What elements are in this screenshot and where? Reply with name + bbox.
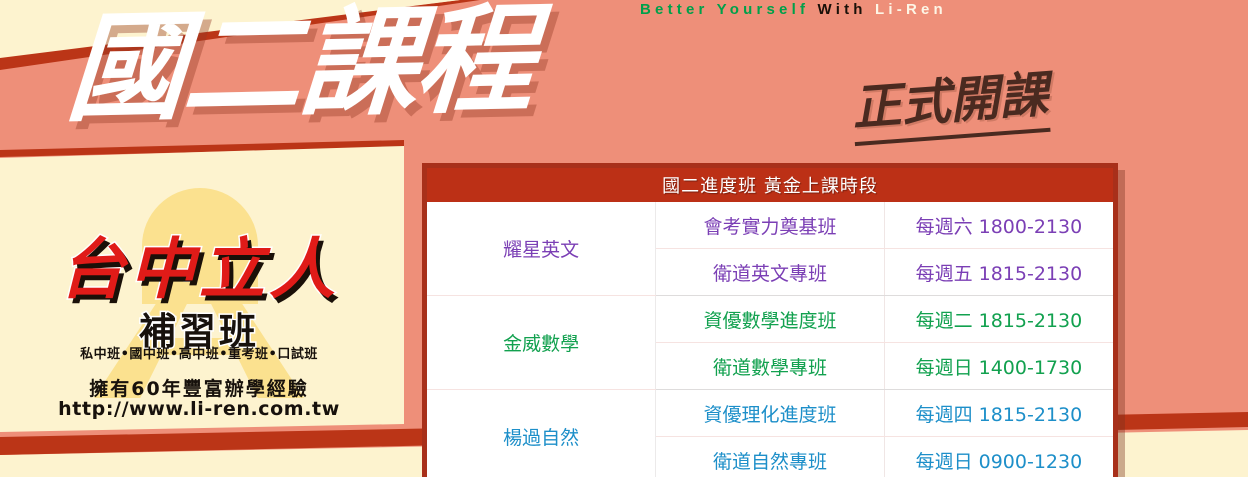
page-title: 國二課程 — [64, 0, 537, 128]
course-time-cell: 每週六 1800-2130 — [884, 202, 1113, 249]
logo-course-list: 私中班•國中班•高中班•重考班•口試班 — [24, 343, 374, 362]
logo-website-url[interactable]: http://www.li-ren.com.tw — [24, 398, 374, 420]
tagline-part-li-ren: Li-Ren — [875, 1, 947, 18]
subject-cell: 耀星英文 — [427, 202, 656, 296]
course-name-cell: 資優數學進度班 — [656, 296, 885, 343]
subject-cell: 楊過自然 — [427, 390, 656, 477]
course-time-cell: 每週二 1815-2130 — [884, 296, 1113, 343]
logo[interactable]: 台中立人 補習班 私中班•國中班•高中班•重考班•口試班 擁有60年豐富辦學經驗… — [24, 188, 374, 423]
course-name-cell: 資優理化進度班 — [656, 390, 885, 437]
subtitle-wrapper: 正式開課 — [849, 55, 1050, 146]
course-time-cell: 每週日 0900-1230 — [884, 437, 1113, 477]
course-time-cell: 每週五 1815-2130 — [884, 249, 1113, 296]
course-time-cell: 每週四 1815-2130 — [884, 390, 1113, 437]
tagline-part-with: With — [818, 1, 876, 18]
schedule-table-head: 國二進度班 黃金上課時段 — [427, 168, 1113, 202]
course-time-cell: 每週日 1400-1730 — [884, 343, 1113, 390]
schedule-table-title: 國二進度班 黃金上課時段 — [427, 168, 1113, 202]
course-name-cell: 會考實力奠基班 — [656, 202, 885, 249]
logo-experience-text: 擁有60年豐富辦學經驗 — [24, 374, 374, 401]
promotional-banner: Better Yourself With Li-Ren 國二課程 正式開課 台中… — [0, 0, 1248, 477]
course-name-cell: 衛道英文專班 — [656, 249, 885, 296]
table-row: 楊過自然資優理化進度班每週四 1815-2130 — [427, 390, 1113, 437]
course-name-cell: 衛道自然專班 — [656, 437, 885, 477]
schedule-table-body: 耀星英文會考實力奠基班每週六 1800-2130衛道英文專班每週五 1815-2… — [427, 202, 1113, 477]
tagline: Better Yourself With Li-Ren — [640, 1, 947, 18]
schedule-table-container: 國二進度班 黃金上課時段 耀星英文會考實力奠基班每週六 1800-2130衛道英… — [422, 163, 1118, 477]
table-row: 金威數學資優數學進度班每週二 1815-2130 — [427, 296, 1113, 343]
subject-cell: 金威數學 — [427, 296, 656, 390]
table-row: 耀星英文會考實力奠基班每週六 1800-2130 — [427, 202, 1113, 249]
tagline-part-better-yourself: Better Yourself — [640, 1, 818, 18]
course-name-cell: 衛道數學專班 — [656, 343, 885, 390]
table-header-row: 國二進度班 黃金上課時段 — [427, 168, 1113, 202]
schedule-table: 國二進度班 黃金上課時段 耀星英文會考實力奠基班每週六 1800-2130衛道英… — [427, 168, 1113, 477]
subtitle-official-start: 正式開課 — [849, 55, 1050, 146]
logo-brand-name: 台中立人 — [24, 216, 374, 312]
